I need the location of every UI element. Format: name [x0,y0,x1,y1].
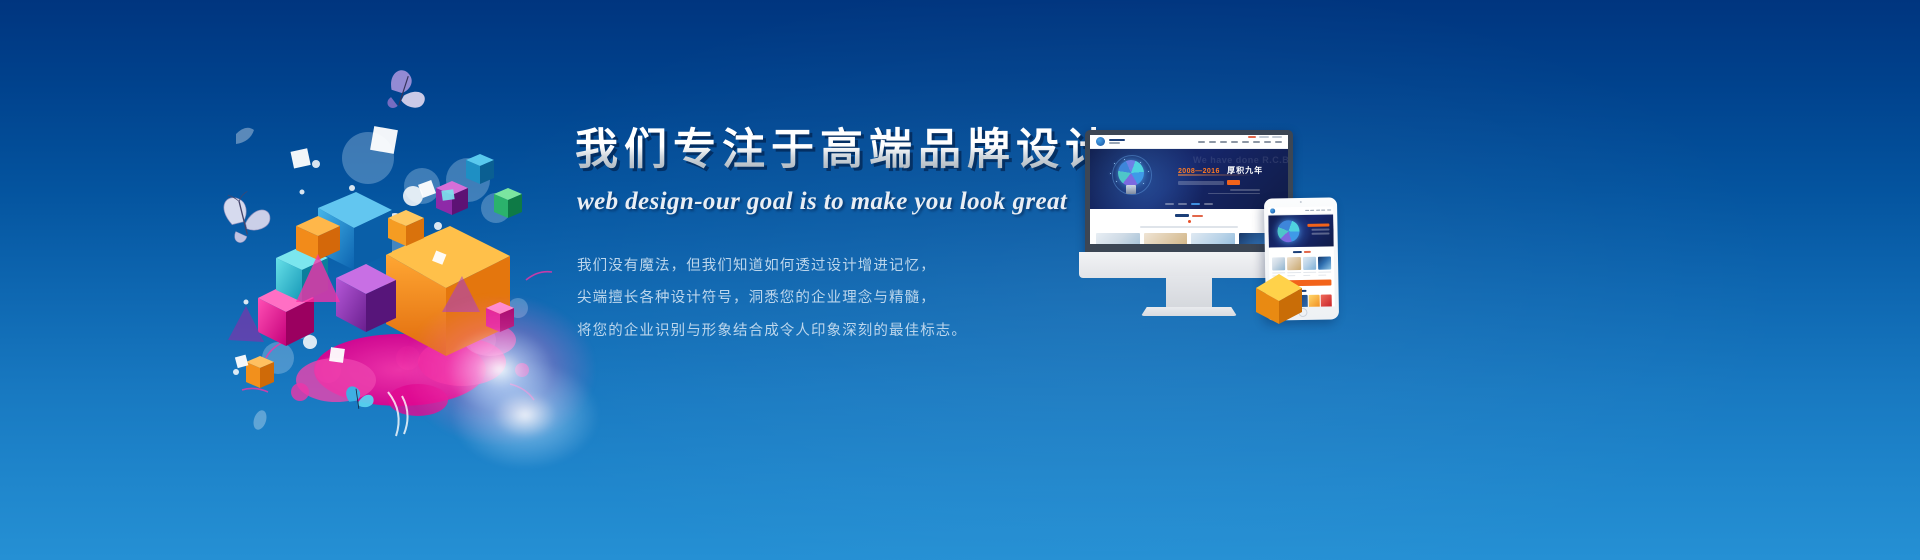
site-content-section [1090,209,1288,244]
phone-logo-icon [1270,209,1275,214]
site-thumbnail-row [1096,233,1282,244]
phone-camera-icon [1299,201,1301,203]
phone-hero-banner [1268,214,1334,247]
phone-gallery-item [1321,295,1332,308]
site-hero-pagination [1165,203,1213,205]
banner-headline: 我们专注于高端品牌设计 [575,125,1135,176]
site-hero-meta [1200,189,1260,194]
paragraph-line-3: 将您的企业识别与形象结合成令人印象深刻的最佳标志。 [577,321,1135,343]
site-nav-items [1198,141,1282,143]
hero-banner: 我们专注于高端品牌设计 web design-our goal is to ma… [0,0,1920,560]
bulb-network-nodes [1110,157,1152,201]
banner-copy: 我们专注于高端品牌设计 web design-our goal is to ma… [575,125,1135,354]
site-logo-icon [1096,137,1105,146]
desktop-monitor-mockup: We have done R.C.B.D design [1085,130,1293,258]
site-section-description [1140,226,1238,228]
site-hero-ghost-text: We have done R.C.B.D design [1193,155,1288,165]
site-logo-text [1109,139,1125,144]
site-topbar [1248,136,1282,138]
phone-card [1318,257,1332,276]
phone-nav-items [1305,209,1331,211]
abstract-artwork [150,40,570,460]
site-thumbnail [1191,233,1235,244]
monitor-stand-neck [1166,276,1212,310]
site-section-title [1096,214,1282,217]
phone-gallery-item [1309,295,1320,308]
site-hero-cta-row [1178,180,1240,185]
monitor-stand-base [1141,307,1237,316]
site-thumbnail [1144,233,1188,244]
paragraph-line-1: 我们没有魔法，但我们知道如何透过设计增进记忆， [577,256,1135,278]
banner-paragraph: 我们没有魔法，但我们知道如何透过设计增进记忆， 尖端擅长各种设计符号，洞悉您的企… [575,256,1135,343]
site-hero-bulb-graphic [1110,157,1152,201]
banner-subheadline: web design-our goal is to make you look … [577,188,1135,216]
site-hero-cta-button [1227,180,1240,185]
site-hero-banner: We have done R.C.B.D design [1090,149,1288,209]
website-preview: We have done R.C.B.D design [1090,135,1288,244]
monitor-screen: We have done R.C.B.D design [1090,135,1288,244]
site-navbar [1090,135,1288,149]
site-hero-subline [1178,174,1254,176]
site-thumbnail [1096,233,1140,244]
phone-hero-text [1307,224,1329,235]
phone-hero-bulb-graphic [1277,220,1299,242]
device-mockup-group: We have done R.C.B.D design [1085,130,1355,330]
paragraph-line-2: 尖端擅长各种设计符号，洞悉您的企业理念与精髓， [577,288,1135,310]
floating-orange-cube [1252,270,1306,326]
site-section-marker [1188,220,1191,223]
